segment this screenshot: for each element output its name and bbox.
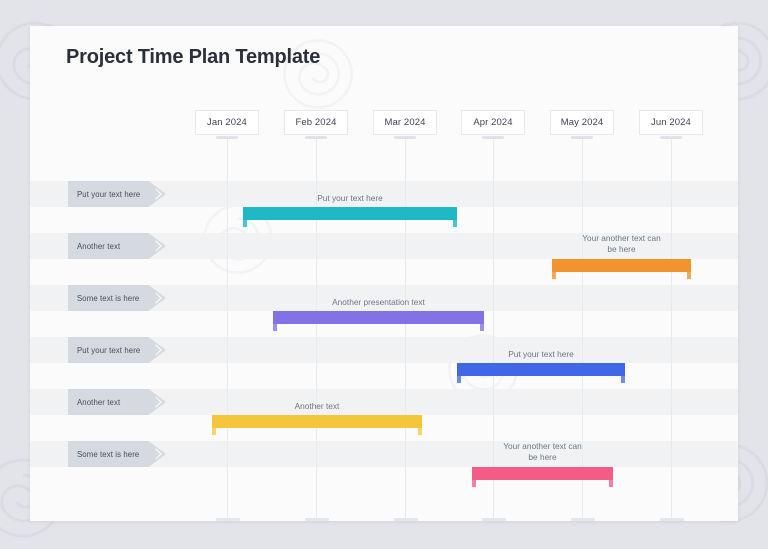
gridline-foot — [482, 518, 506, 521]
month-header-apr-2024[interactable]: Apr 2024 — [461, 110, 525, 135]
gridline-foot — [394, 518, 418, 521]
gantt-bar-end-marker-l — [243, 220, 247, 227]
task-label-text: Put your text here — [77, 346, 140, 355]
month-header-label: Jun 2024 — [651, 117, 691, 128]
task-label-text: Another text — [77, 398, 120, 407]
gantt-bar-caption: Put your text here — [417, 349, 665, 360]
gantt-bar-end-marker-r — [480, 324, 484, 331]
gantt-bar-caption: Another presentation text — [233, 297, 524, 308]
gantt-bar-body — [243, 207, 457, 220]
gantt-bar-row-2[interactable] — [552, 259, 691, 279]
month-header-label: Apr 2024 — [473, 117, 512, 128]
gantt-bar-end-marker-l — [212, 428, 216, 435]
gantt-bar-end-marker-r — [687, 272, 691, 279]
task-label-text: Some text is here — [77, 294, 139, 303]
gantt-bar-body — [472, 467, 613, 480]
gridline-jun-2024 — [671, 139, 672, 519]
month-header-label: Feb 2024 — [296, 117, 337, 128]
gantt-bar-caption: Another text — [172, 401, 462, 412]
month-header-mar-2024[interactable]: Mar 2024 — [373, 110, 437, 135]
month-header-label: Jan 2024 — [207, 117, 247, 128]
page-title: Project Time Plan Template — [66, 46, 320, 69]
month-header-feb-2024[interactable]: Feb 2024 — [284, 110, 348, 135]
gantt-bar-body — [212, 415, 422, 428]
gantt-bar-body — [273, 311, 484, 324]
gantt-bar-row-4[interactable] — [457, 363, 625, 383]
gantt-bar-row-5[interactable] — [212, 415, 422, 435]
gridline-foot — [305, 518, 329, 521]
gantt-bar-end-marker-r — [621, 376, 625, 383]
month-header-label: Mar 2024 — [385, 117, 426, 128]
gantt-bar-row-3[interactable] — [273, 311, 484, 331]
gridline-foot — [216, 518, 240, 521]
gantt-bar-row-1[interactable] — [243, 207, 457, 227]
task-label-text: Another text — [77, 242, 120, 251]
month-header-jun-2024[interactable]: Jun 2024 — [639, 110, 703, 135]
gantt-bar-end-marker-r — [418, 428, 422, 435]
gantt-bar-end-marker-l — [457, 376, 461, 383]
gantt-bar-body — [457, 363, 625, 376]
gantt-chart-card: Project Time Plan Template Jan 2024Feb 2… — [30, 26, 738, 521]
task-label-text: Some text is here — [77, 450, 139, 459]
gantt-bar-caption: Your another text can be here — [432, 441, 653, 463]
gridline-foot — [660, 518, 684, 521]
gantt-bar-end-marker-l — [552, 272, 556, 279]
month-header-may-2024[interactable]: May 2024 — [550, 110, 614, 135]
gantt-bar-caption: Your another text can be here — [512, 233, 731, 255]
month-header-jan-2024[interactable]: Jan 2024 — [195, 110, 259, 135]
gantt-bar-end-marker-l — [472, 480, 476, 487]
month-header-label: May 2024 — [561, 117, 604, 128]
gantt-bar-caption: Put your text here — [203, 193, 497, 204]
gantt-bar-row-6[interactable] — [472, 467, 613, 487]
gridline-foot — [571, 518, 595, 521]
task-label-text: Put your text here — [77, 190, 140, 199]
gantt-bar-end-marker-r — [609, 480, 613, 487]
gantt-bar-end-marker-l — [273, 324, 277, 331]
gantt-bar-body — [552, 259, 691, 272]
gantt-bar-end-marker-r — [453, 220, 457, 227]
